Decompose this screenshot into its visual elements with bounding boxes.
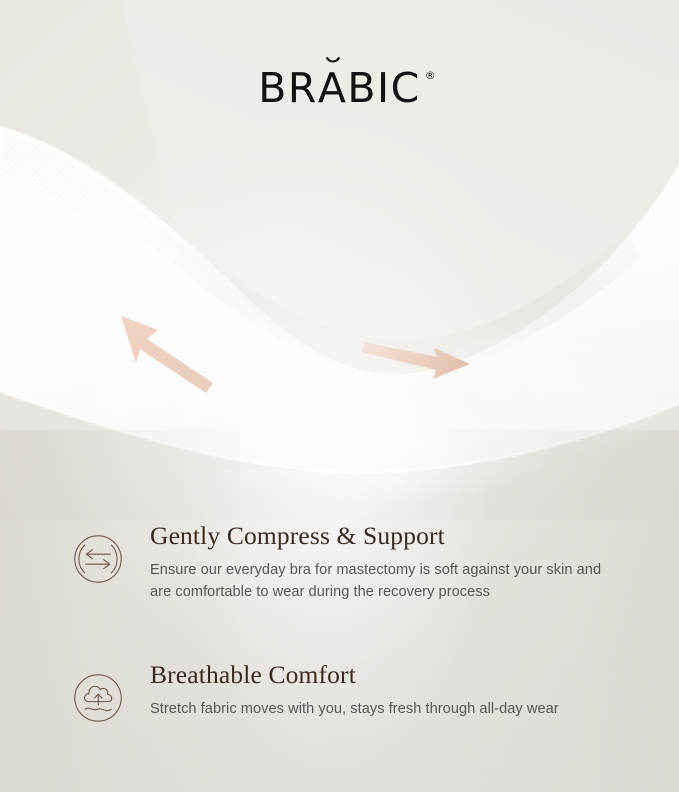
breathable-cloud-icon xyxy=(72,672,124,724)
feature-description: Ensure our everyday bra for mastectomy i… xyxy=(150,559,620,603)
feature-list: Gently Compress & Support Ensure our eve… xyxy=(0,520,679,724)
brand-letter-a-glyph: A xyxy=(318,64,348,112)
feature-text-block: Gently Compress & Support Ensure our eve… xyxy=(124,520,635,603)
brand-name-after: BIC xyxy=(347,68,420,109)
brand-logo: BRA BIC® xyxy=(0,68,679,109)
feature-text-block: Breathable Comfort Stretch fabric moves … xyxy=(124,659,635,720)
product-feature-card: BRA BIC® xyxy=(0,0,679,792)
breve-accent-icon xyxy=(324,57,341,66)
feature-item-breathable-comfort: Breathable Comfort Stretch fabric moves … xyxy=(0,659,679,724)
stretch-arrows-icon xyxy=(72,533,124,585)
feature-description: Stretch fabric moves with you, stays fre… xyxy=(150,698,620,720)
brand-letter-a: A xyxy=(318,68,348,109)
brand-name-before: BR xyxy=(258,68,318,109)
feature-item-compress-support: Gently Compress & Support Ensure our eve… xyxy=(0,520,679,603)
feature-title: Gently Compress & Support xyxy=(150,521,635,552)
registered-trademark-icon: ® xyxy=(425,70,436,81)
feature-title: Breathable Comfort xyxy=(150,660,635,691)
brand-wordmark: BRA BIC® xyxy=(258,68,421,109)
